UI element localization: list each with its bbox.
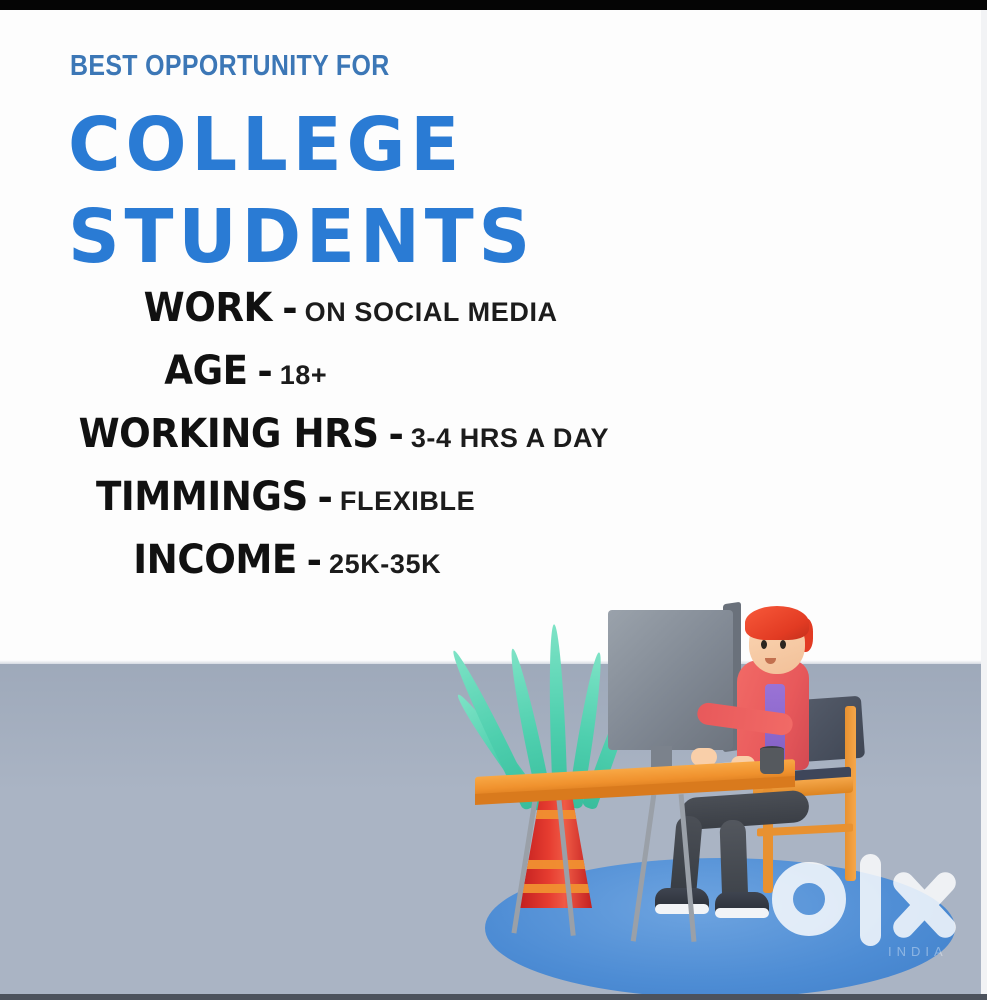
right-edge-strip <box>981 10 987 994</box>
spec-label-working-hours: WORKING HRS <box>78 411 378 457</box>
olx-watermark: INDIA <box>768 852 968 970</box>
person-eye <box>780 640 786 649</box>
spec-row-working-hours: WORKING HRS - 3-4 HRS A DAY <box>0 411 770 457</box>
kicker-text: BEST OPPORTUNITY FOR <box>70 50 390 83</box>
spec-dash-timings: - <box>318 476 333 519</box>
person-shoe <box>715 892 769 918</box>
spec-value-income: 25K-35K <box>329 549 441 580</box>
vase-stripe <box>520 884 592 893</box>
spec-dash-work: - <box>282 287 297 330</box>
spec-label-income: INCOME <box>133 537 297 583</box>
spec-row-age: AGE - 18+ <box>0 348 770 394</box>
spec-row-timings: TIMMINGS - FLEXIBLE <box>0 474 770 520</box>
watermark-letter-x-icon <box>888 868 962 942</box>
bottom-edge-strip <box>0 994 987 1000</box>
monitor-screen <box>608 610 733 750</box>
coffee-mug <box>760 748 784 774</box>
person-hair <box>745 606 809 640</box>
spec-value-timings: FLEXIBLE <box>340 486 475 517</box>
shoe-sole <box>715 908 769 918</box>
spec-row-income: INCOME - 25K-35K <box>0 537 770 583</box>
title-line-1: COLLEGE <box>68 108 464 182</box>
watermark-letter-o-icon <box>772 862 846 936</box>
watermark-letter-l-icon <box>860 854 881 946</box>
spec-value-working-hours: 3-4 HRS A DAY <box>411 423 609 454</box>
top-black-bar <box>0 0 987 10</box>
spec-dash-income: - <box>307 539 322 582</box>
poster-canvas: BEST OPPORTUNITY FOR COLLEGE STUDENTS WO… <box>0 0 987 1000</box>
spec-row-work: WORK - ON SOCIAL MEDIA <box>0 285 770 331</box>
spec-dash-working-hours: - <box>388 413 403 456</box>
spec-dash-age: - <box>257 350 272 393</box>
spec-label-timings: TIMMINGS <box>96 474 308 520</box>
watermark-sublabel: INDIA <box>888 944 948 959</box>
spec-label-age: AGE <box>164 348 247 394</box>
title-line-2: STUDENTS <box>68 200 535 274</box>
spec-list: WORK - ON SOCIAL MEDIA AGE - 18+ WORKING… <box>0 285 770 583</box>
spec-value-work: ON SOCIAL MEDIA <box>305 297 558 328</box>
spec-value-age: 18+ <box>280 360 328 391</box>
person-shoe <box>655 888 709 914</box>
vase-stripe <box>520 860 592 869</box>
shoe-sole <box>655 904 709 914</box>
person-eye <box>761 640 767 649</box>
spec-label-work: WORK <box>144 285 272 331</box>
